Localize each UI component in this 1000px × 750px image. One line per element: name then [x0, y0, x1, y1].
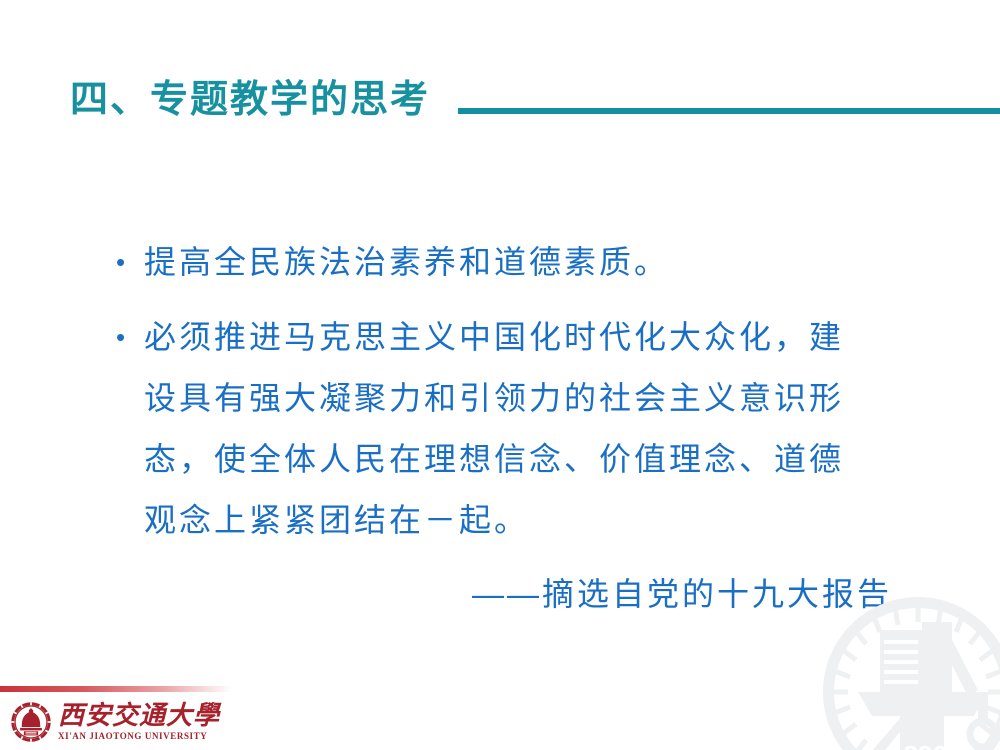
bullet-text: 必须推进马克思主义中国化时代化大众化，建 设具有强大凝聚力和引领力的社会主义意识…: [144, 307, 920, 551]
bullet-marker-icon: •: [110, 232, 144, 292]
bullet-marker-icon: •: [110, 307, 144, 367]
list-item: • 必须推进马克思主义中国化时代化大众化，建 设具有强大凝聚力和引领力的社会主义…: [110, 307, 920, 551]
logo-english-name: XI'AN JIAOTONG UNIVERSITY: [58, 730, 220, 742]
page-title: 四、专题教学的思考: [70, 81, 430, 119]
list-item: • 提高全民族法治素养和道德素质。: [110, 232, 920, 293]
bullet-line: 设具有强大凝聚力和引领力的社会主义意识形: [144, 368, 920, 429]
title-underline-rule: [458, 108, 1000, 114]
slide-title-row: 四、专题教学的思考: [0, 72, 1000, 128]
footer-divider: [0, 686, 232, 692]
watermark-year: 1896: [889, 740, 947, 750]
bullet-text: 提高全民族法治素养和道德素质。: [144, 232, 920, 293]
quote-attribution: ——摘选自党的十九大报告: [110, 565, 920, 623]
university-logo: 西安交通大學 XI'AN JIAOTONG UNIVERSITY: [10, 699, 220, 745]
logo-chinese-name: 西安交通大學: [58, 702, 220, 730]
bullet-line: 观念上紧紧团结在－起。: [144, 490, 920, 551]
slide-body: • 提高全民族法治素养和道德素质。 • 必须推进马克思主义中国化时代化大众化，建…: [110, 232, 920, 623]
presentation-slide: 四、专题教学的思考 • 提高全民族法治素养和道德素质。 • 必须推进马克思主义中…: [0, 0, 1000, 750]
bullet-line: 必须推进马克思主义中国化时代化大众化，建: [144, 307, 920, 368]
xjtu-emblem-icon: [10, 701, 52, 743]
logo-wordmark: 西安交通大學 XI'AN JIAOTONG UNIVERSITY: [58, 702, 220, 742]
bullet-line: 态，使全体人民在理想信念、价值理念、道德: [144, 429, 920, 490]
bullet-line: 提高全民族法治素养和道德素质。: [144, 232, 920, 293]
